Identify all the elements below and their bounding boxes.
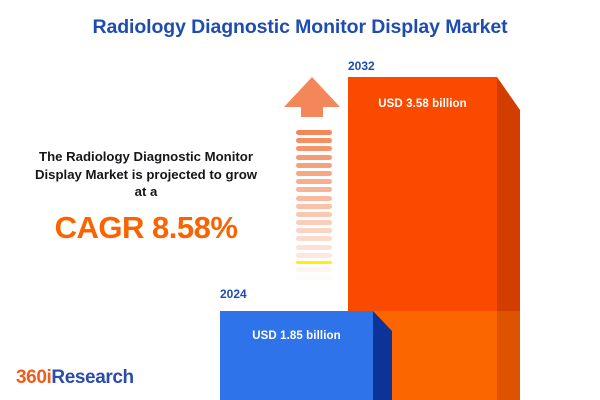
logo-part-research: Research — [51, 367, 133, 388]
brand-logo[interactable]: 360iResearch — [16, 367, 134, 389]
bar-2024-front-face — [220, 311, 373, 400]
arrow-stripe — [296, 130, 332, 135]
arrow-stripe — [296, 220, 332, 225]
arrow-stripe — [296, 204, 332, 209]
arrow-stripe — [296, 228, 332, 233]
arrow-stripe — [296, 196, 332, 201]
arrow-stripe — [296, 267, 332, 272]
description-line-2: Display Market is projected to grow — [35, 167, 257, 182]
bar-label-year-2032: 2032 — [348, 59, 375, 73]
bar-2024-side-face — [373, 311, 403, 400]
bar-2032-value-label: USD 3.58 billion — [348, 98, 497, 110]
description-line-1: The Radiology Diagnostic Monitor — [39, 149, 253, 164]
arrow-stripe — [296, 146, 332, 151]
description-text: The Radiology Diagnostic Monitor Display… — [18, 148, 274, 201]
bar-label-year-2024: 2024 — [220, 287, 247, 301]
cagr-value: CAGR 8.58% — [18, 210, 274, 246]
arrow-stripe — [296, 212, 332, 217]
arrow-stripe — [296, 236, 332, 241]
bar-2024-value-label: USD 1.85 billion — [220, 330, 373, 342]
bar-2032-side-face — [497, 77, 533, 400]
arrow-stripes — [296, 130, 332, 290]
arrow-stripe — [296, 138, 332, 143]
arrow-stripe — [296, 187, 332, 192]
description-line-3: at a — [135, 184, 158, 199]
arrow-stripe — [296, 253, 332, 258]
arrow-stripe — [296, 155, 332, 160]
growth-arrow-icon — [282, 74, 342, 289]
page-title: Radiology Diagnostic Monitor Display Mar… — [0, 16, 600, 39]
arrow-stripe — [296, 283, 332, 288]
arrow-stripe — [296, 179, 332, 184]
arrow-stripe — [296, 171, 332, 176]
infographic-canvas: Radiology Diagnostic Monitor Display Mar… — [0, 0, 600, 400]
logo-part-360: 360 — [16, 367, 47, 388]
arrow-stripe — [296, 275, 332, 280]
description-block: The Radiology Diagnostic Monitor Display… — [18, 148, 274, 246]
arrow-stripe — [296, 163, 332, 168]
arrow-stripe — [296, 245, 332, 250]
arrow-stripe — [296, 261, 332, 264]
arrow-head-icon — [282, 74, 342, 134]
